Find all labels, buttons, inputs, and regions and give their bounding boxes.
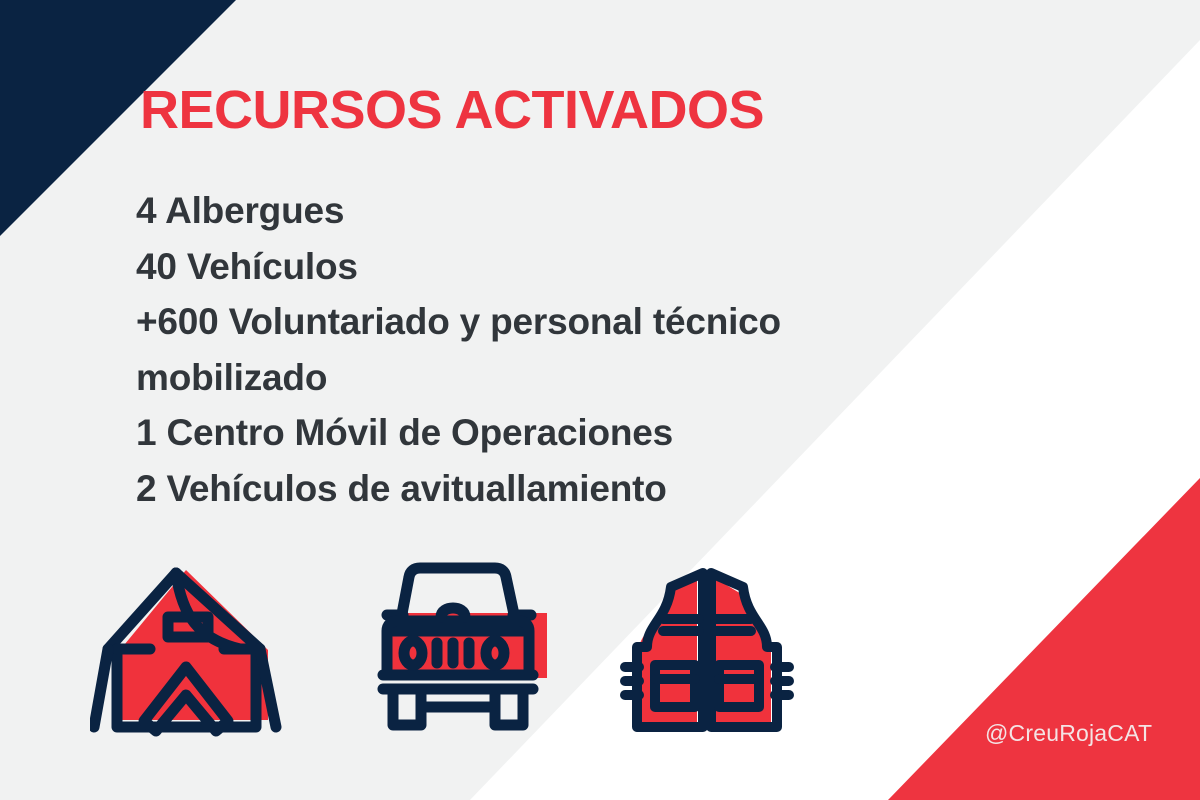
list-item: mobilizado: [136, 350, 1056, 406]
list-item: 2 Vehículos de avituallamiento: [136, 461, 1056, 517]
tent-icon: [90, 555, 305, 740]
list-item: 1 Centro Móvil de Operaciones: [136, 405, 1056, 461]
list-item: 40 Vehículos: [136, 239, 1056, 295]
infographic-canvas: RECURSOS ACTIVADOS 4 Albergues 40 Vehícu…: [0, 0, 1200, 800]
social-handle: @CreuRojaCAT: [985, 720, 1152, 747]
resources-list: 4 Albergues 40 Vehículos +600 Voluntaria…: [136, 183, 1056, 516]
page-title: RECURSOS ACTIVADOS: [140, 83, 764, 137]
safety-vest-icon: [615, 555, 800, 740]
vehicle-icon: [365, 555, 565, 740]
list-item: +600 Voluntariado y personal técnico: [136, 294, 1056, 350]
list-item: 4 Albergues: [136, 183, 1056, 239]
icon-row: [90, 555, 790, 745]
